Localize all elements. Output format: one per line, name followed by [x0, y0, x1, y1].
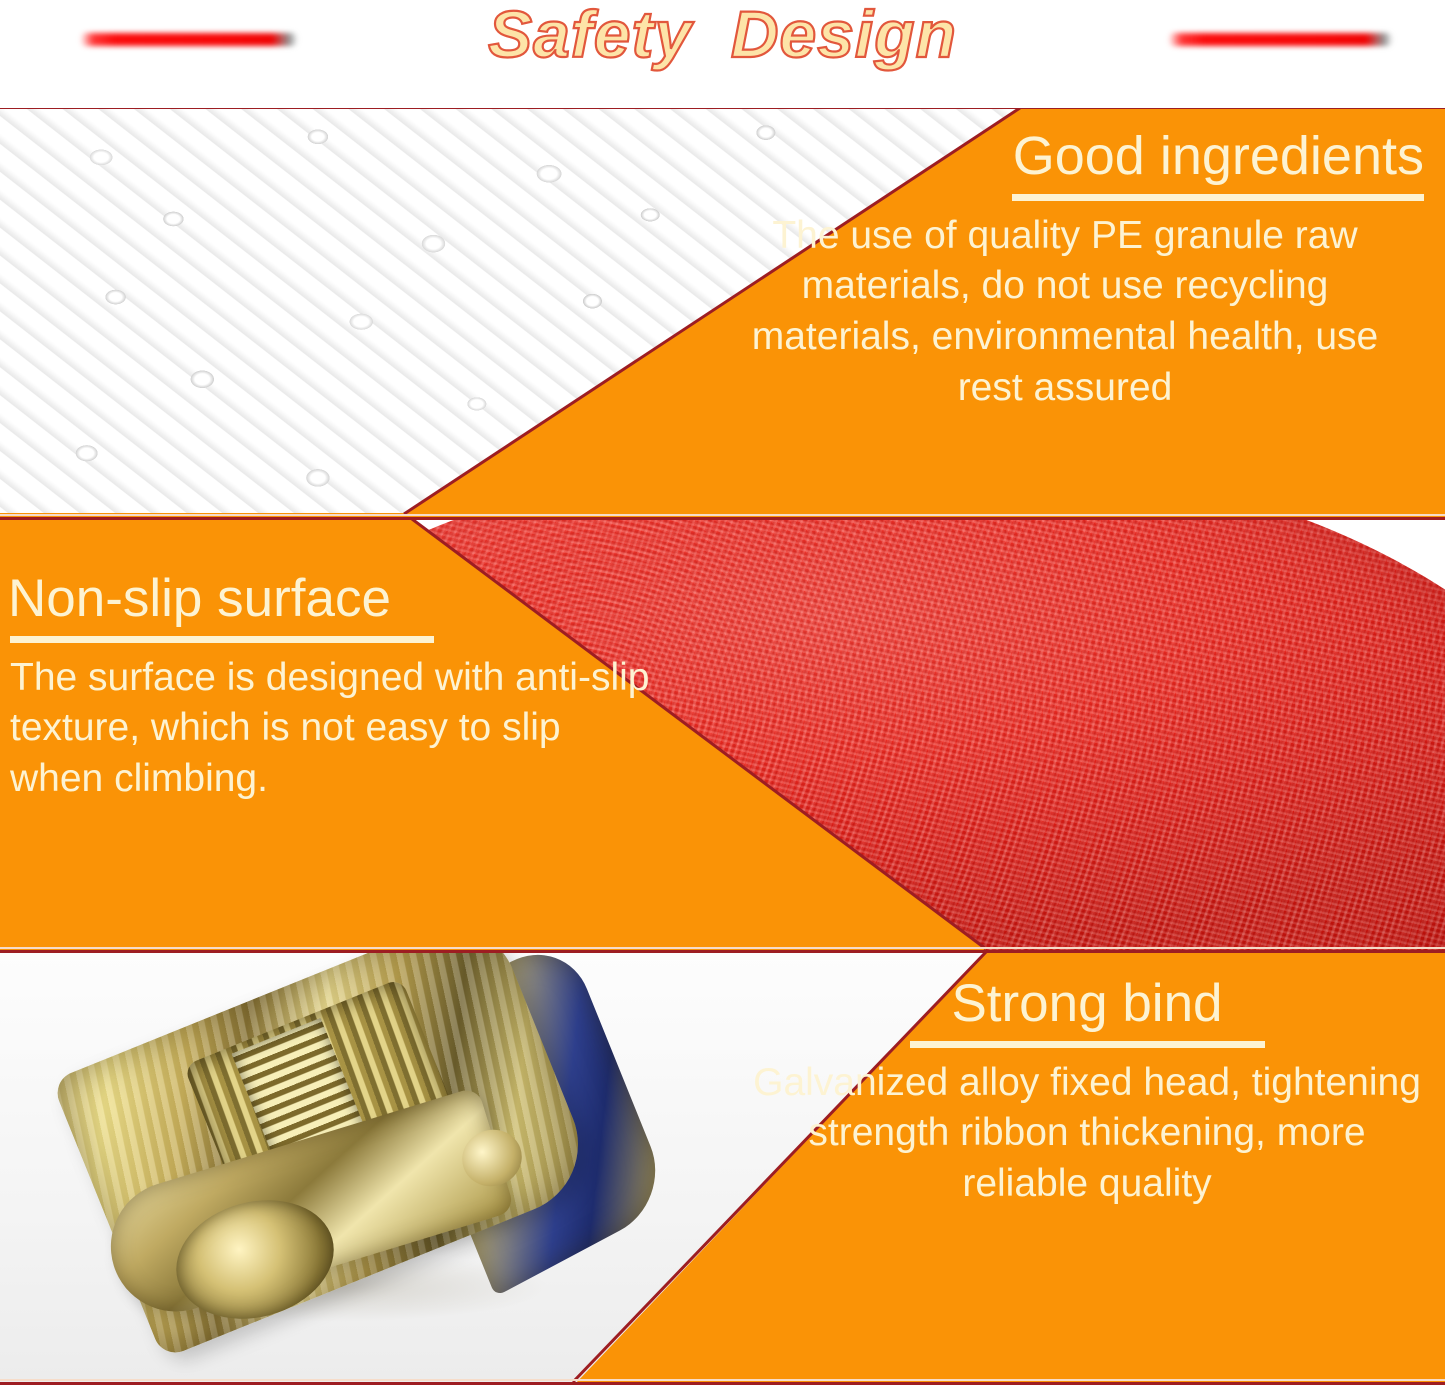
divider-bottom	[0, 1382, 1445, 1385]
feature-title-underline-3	[910, 1041, 1265, 1048]
feature-title-underline-2	[10, 636, 434, 643]
divider-1	[0, 517, 1445, 520]
feature-title-1: Good ingredients	[700, 128, 1430, 185]
divider-thin-1	[0, 514, 1445, 516]
feature-section-non-slip-surface: Non-slip surface The surface is designed…	[0, 519, 1445, 952]
feature-content-2: Non-slip surface The surface is designed…	[8, 571, 654, 805]
feature-section-good-ingredients: Good ingredients The use of quality PE g…	[0, 108, 1445, 519]
feature-body-3: Galvanized alloy fixed head, tightening …	[742, 1058, 1432, 1210]
page-header: Safety Design	[0, 0, 1445, 108]
feature-body-1: The use of quality PE granule raw materi…	[700, 211, 1430, 414]
feature-section-strong-bind: Strong bind Galvanized alloy fixed head,…	[0, 952, 1445, 1384]
feature-title-3: Strong bind	[742, 976, 1432, 1032]
feature-title-underline-1	[1012, 194, 1424, 201]
feature-title-2: Non-slip surface	[8, 571, 654, 627]
feature-content-3: Strong bind Galvanized alloy fixed head,…	[742, 976, 1432, 1210]
infographic-page: Safety Design Good ingredients The use o…	[0, 0, 1445, 1390]
feature-body-2: The surface is designed with anti-slip t…	[8, 653, 654, 805]
feature-content-1: Good ingredients The use of quality PE g…	[700, 128, 1430, 413]
divider-thin-2	[0, 947, 1445, 949]
divider-thin-3	[0, 1379, 1445, 1381]
page-title: Safety Design	[0, 0, 1445, 72]
page-title-wrap: Safety Design	[0, 0, 1445, 108]
divider-2	[0, 950, 1445, 953]
